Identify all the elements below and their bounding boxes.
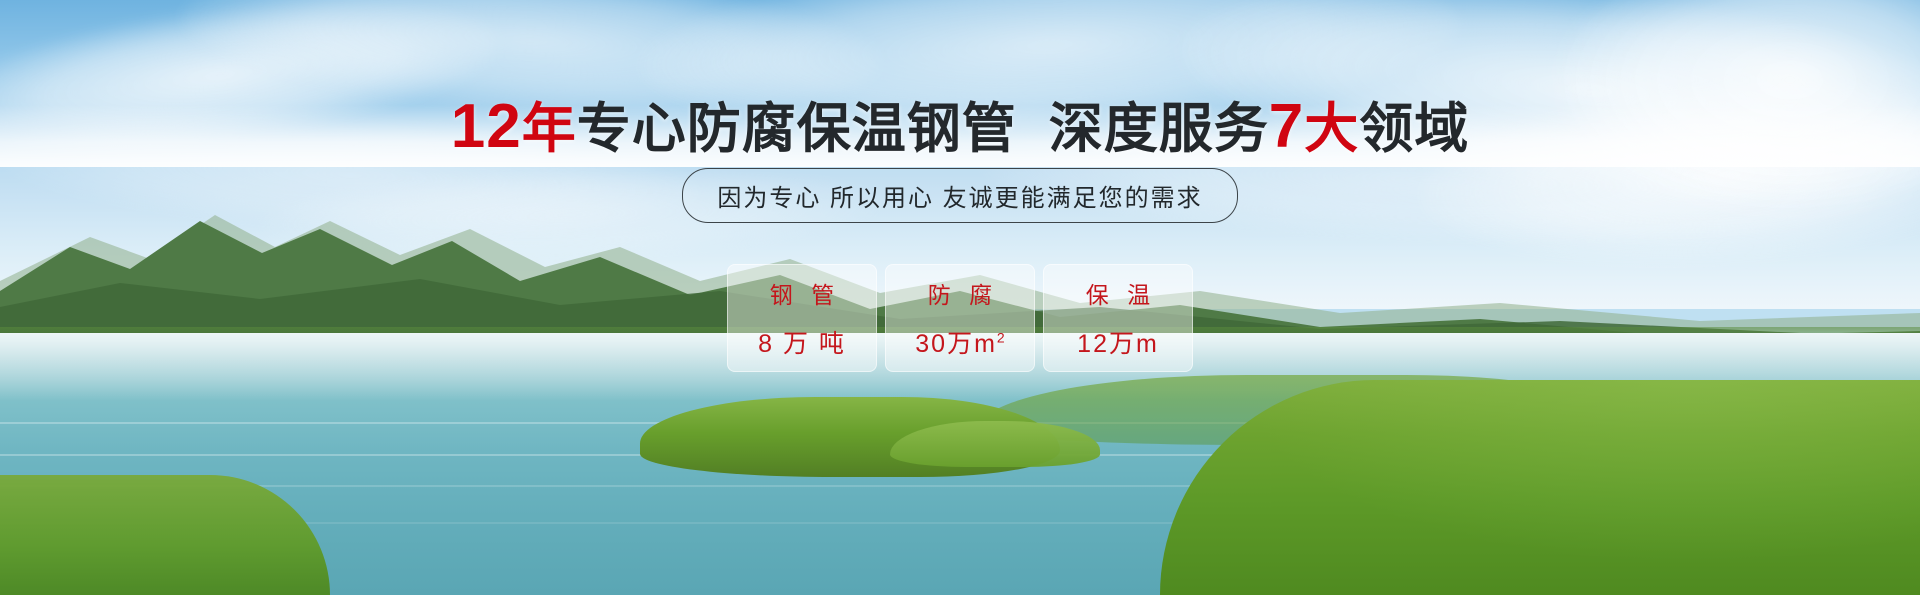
stat-card-value-text: 8 万 吨 xyxy=(758,330,846,358)
promo-banner: 12年专心防腐保温钢管深度服务7大领域 因为专心 所以用心 友诚更能满足您的需求… xyxy=(0,0,1920,595)
subtitle-pill: 因为专心 所以用心 友诚更能满足您的需求 xyxy=(682,168,1237,223)
headline-fields-big: 大 xyxy=(1304,99,1359,159)
headline-years-number: 12 xyxy=(451,92,522,161)
stat-cards: 钢 管 8 万 吨 防 腐 30万m2 保 温 12万m xyxy=(0,264,1920,372)
headline-main-text: 专心防腐保温钢管 xyxy=(577,99,1017,159)
headline-fields-text: 领域 xyxy=(1359,99,1469,159)
stat-card-title: 防 腐 xyxy=(922,276,998,310)
stat-card-value-text: 30万m xyxy=(915,330,997,358)
stat-card-value-superscript: 2 xyxy=(997,330,1005,346)
stat-card-anticorrosion[interactable]: 防 腐 30万m2 xyxy=(885,264,1035,372)
stat-card-insulation[interactable]: 保 温 12万m xyxy=(1043,264,1193,372)
stat-card-value: 30万m2 xyxy=(915,324,1004,360)
stat-card-value: 8 万 吨 xyxy=(758,324,846,360)
headline-years-unit: 年 xyxy=(522,99,577,159)
subtitle-container: 因为专心 所以用心 友诚更能满足您的需求 xyxy=(0,168,1920,223)
stat-card-title: 保 温 xyxy=(1080,276,1156,310)
stat-card-steel-pipe[interactable]: 钢 管 8 万 吨 xyxy=(727,264,877,372)
headline-fields-number: 7 xyxy=(1269,92,1304,161)
stat-card-value-text: 12万m xyxy=(1077,330,1159,358)
banner-headline: 12年专心防腐保温钢管深度服务7大领域 xyxy=(0,84,1920,163)
stat-card-title: 钢 管 xyxy=(764,276,840,310)
grass-field-right xyxy=(1160,380,1920,595)
stat-card-value: 12万m xyxy=(1077,324,1159,360)
headline-service-text: 深度服务 xyxy=(1049,99,1269,159)
